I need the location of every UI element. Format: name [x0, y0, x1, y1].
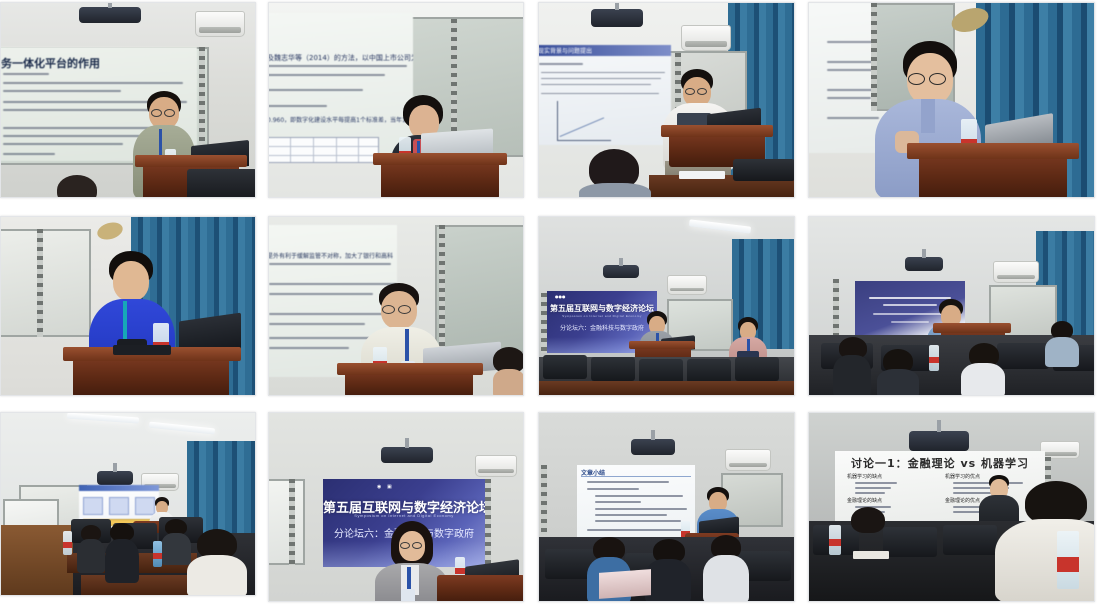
torso: [187, 555, 247, 595]
chair-back: [639, 359, 683, 383]
lanyard: [405, 329, 409, 363]
slide-text-line: [3, 90, 121, 92]
chair-back: [883, 527, 937, 557]
whiteboard: [435, 225, 523, 353]
podium-top: [373, 153, 507, 165]
slide-text-line: [269, 263, 391, 265]
chair-back: [943, 525, 997, 555]
slide-table: [269, 137, 379, 163]
gallery-photo-8[interactable]: [808, 216, 1095, 396]
slide-text-line: [827, 97, 871, 99]
podium-top: [337, 363, 483, 375]
torso: [579, 183, 651, 197]
chair-back: [687, 359, 731, 383]
audience-member: [1045, 321, 1079, 367]
projector-icon: [909, 431, 969, 451]
university-logo: ●●●: [555, 294, 565, 299]
slide-text-line: [269, 347, 349, 349]
torso: [645, 559, 691, 601]
photo-1-slide-heading: 务一体化平台的作用: [1, 55, 100, 71]
shirt-placket: [921, 99, 935, 133]
audience-member: [877, 349, 919, 395]
slide-text-line: [269, 65, 407, 67]
torso: [961, 363, 1005, 395]
podium: [73, 355, 229, 395]
slide-text-line: [541, 72, 665, 73]
paper-stack: [679, 171, 725, 179]
slide-text-line: [269, 89, 363, 91]
podium-top: [907, 143, 1079, 159]
whiteboard-rail: [289, 479, 295, 565]
water-bottle: [929, 345, 939, 371]
audience-member: [49, 175, 105, 197]
slide-text-line: [827, 117, 879, 119]
photo-5-scene: [1, 217, 255, 395]
torso: [105, 539, 139, 583]
lanyard: [123, 301, 127, 341]
lanyard: [407, 567, 411, 591]
chair-back: [735, 357, 779, 381]
audience-member: [579, 149, 651, 197]
glasses-icon: [697, 88, 707, 95]
slide-text-line: [855, 492, 885, 494]
photo-6-slide-heading: 是外有利于缓解监管不对称，加大了银行和高科: [269, 251, 393, 260]
table-rule: [269, 146, 378, 147]
glasses-icon: [929, 73, 946, 85]
photo-11-scene: 文章小结: [539, 413, 794, 601]
head: [113, 261, 149, 301]
podium: [437, 575, 523, 601]
projector-icon: [97, 471, 133, 485]
slide-text-line: [827, 69, 875, 71]
torso: [703, 555, 749, 601]
slide-text-line: [269, 74, 385, 76]
torso: [1045, 337, 1079, 367]
water-bottle: [153, 541, 162, 567]
whiteboard: [269, 479, 305, 565]
photo-3-slide-heading: 现实背景与问题提出: [539, 46, 592, 55]
photo-12-slide-title: 讨论一1：金融理论 vs 机器学习: [835, 455, 1045, 471]
audience-member-foreground: [995, 481, 1094, 601]
slide-text-line: [3, 82, 183, 84]
audience-member: [493, 347, 523, 395]
gallery-photo-4[interactable]: [808, 2, 1095, 198]
whiteboard-rail: [541, 465, 547, 535]
photo-3-scene: 现实背景与问题提出: [539, 3, 794, 197]
torso: [995, 519, 1094, 601]
front-desk: [539, 381, 794, 395]
slide-text-line: [541, 84, 651, 85]
podium-top: [661, 125, 773, 137]
slide-rule: [581, 476, 691, 477]
whiteboard-rail: [833, 279, 839, 341]
open-laptop: [599, 569, 651, 599]
slide-chart: [557, 101, 611, 141]
photo-2-slide-heading: 及魏志华等（2014）的方法，以中国上市公司为: [269, 53, 413, 63]
gallery-photo-12[interactable]: 讨论一1：金融理论 vs 机器学习 机器学习的缺点 机器学习的优点 金融理论的缺…: [808, 412, 1095, 602]
slide-text-line: [269, 293, 373, 295]
audience-member: [961, 343, 1005, 395]
slide-text-line: [595, 508, 687, 510]
chair-back: [733, 159, 794, 181]
table-rule: [313, 138, 314, 162]
slide-text-line: [595, 520, 681, 522]
air-conditioner-icon: [195, 11, 245, 37]
air-conditioner-icon: [475, 455, 517, 477]
audience-member: [105, 523, 139, 583]
slide-header-bar: [79, 485, 159, 491]
gallery-photo-7[interactable]: ●●● 第五届互联网与数字经济论坛 Symposium on Internet …: [538, 216, 795, 396]
photo-10-scene: ◉ ▣ 第五届互联网与数字经济论坛 Symposium on Internet …: [269, 413, 523, 601]
audience-member: [833, 337, 871, 395]
university-logo: ◉ ▣: [377, 484, 394, 490]
glasses-icon: [151, 109, 162, 117]
photo-gallery-grid: 务一体化平台的作用: [0, 0, 1107, 604]
projector-icon: [631, 439, 675, 455]
slide-text-line: [541, 78, 661, 79]
torso: [833, 355, 871, 395]
table-rule: [336, 138, 337, 162]
projector-icon: [591, 9, 643, 27]
slide-text-line: [587, 481, 669, 483]
projector-icon: [79, 7, 141, 23]
torso: [77, 539, 105, 573]
glasses-icon: [908, 73, 925, 85]
gallery-photo-10[interactable]: ◉ ▣ 第五届互联网与数字经济论坛 Symposium on Internet …: [268, 412, 524, 602]
audience-member: [845, 507, 891, 549]
podium-top: [629, 341, 695, 349]
glasses-icon: [398, 305, 411, 314]
air-conditioner-icon: [993, 261, 1039, 283]
glasses-icon: [685, 88, 695, 95]
slide-text-line: [587, 488, 639, 490]
photo-12-scene: 讨论一1：金融理论 vs 机器学习 机器学习的缺点 机器学习的优点 金融理论的缺…: [809, 413, 1094, 601]
hair: [851, 507, 885, 533]
slide-text-line: [3, 73, 49, 75]
gallery-photo-2[interactable]: 及魏志华等（2014）的方法，以中国上市公司为 0.960，即数字化建设水平每提…: [268, 2, 524, 198]
audience-member: [703, 535, 749, 601]
whiteboard: [1, 229, 91, 337]
slide-text-line: [855, 487, 891, 489]
badge: [401, 589, 415, 601]
projector-icon: [905, 257, 943, 271]
projection-screen: 现实背景与问题提出: [539, 45, 671, 145]
slide-text-line: [595, 514, 667, 516]
chart-trendline: [560, 117, 605, 137]
slide-text-line: [541, 93, 659, 94]
podium-top: [135, 155, 247, 167]
gallery-photo-9[interactable]: [0, 412, 256, 596]
table-rule: [290, 138, 291, 162]
gallery-photo-1[interactable]: 务一体化平台的作用: [0, 2, 256, 198]
gallery-photo-3[interactable]: 现实背景与问题提出: [538, 2, 795, 198]
photo-7-scene: ●●● 第五届互联网与数字经济论坛 Symposium on Internet …: [539, 217, 794, 395]
glasses-icon: [164, 109, 175, 117]
slide-box: [83, 497, 103, 515]
glasses-icon: [412, 542, 422, 549]
gallery-photo-11[interactable]: 文章小结: [538, 412, 795, 602]
air-conditioner-icon: [725, 449, 771, 471]
slide-text-line: [587, 529, 683, 531]
keyboard: [113, 345, 171, 355]
chair-back: [591, 357, 635, 381]
projector-icon: [603, 265, 639, 278]
air-conditioner-icon: [681, 25, 731, 51]
gallery-photo-5[interactable]: [0, 216, 256, 396]
water-bottle: [63, 531, 72, 555]
photo-12-col2-head: 机器学习的优点: [945, 473, 980, 480]
photo-12-col4-head: 金融理论的优点: [945, 497, 980, 504]
chair-back: [187, 169, 255, 197]
photo-1-scene: 务一体化平台的作用: [1, 3, 255, 197]
audience-member-foreground: [187, 529, 247, 595]
photo-9-scene: [1, 413, 255, 595]
torso: [493, 369, 523, 395]
table-rule: [358, 138, 359, 162]
glasses-icon: [400, 542, 410, 549]
water-bottle: [1057, 531, 1079, 589]
air-conditioner-icon: [667, 275, 707, 295]
audience-member: [645, 539, 691, 601]
photo-2-scene: 及魏志华等（2014）的方法，以中国上市公司为 0.960，即数字化建设水平每提…: [269, 3, 523, 197]
photo-12-col1-head: 机器学习的缺点: [847, 473, 882, 480]
slide-text-line: [269, 323, 365, 325]
slide-text-line: [3, 153, 55, 155]
torso: [877, 369, 919, 395]
whiteboard-rail: [37, 229, 43, 337]
slide-text-line: [855, 482, 897, 484]
chair-back: [543, 355, 587, 379]
slide-text-line: [269, 105, 327, 107]
hair: [57, 175, 97, 197]
slide-text-line: [595, 495, 683, 497]
audience-member: [77, 525, 105, 573]
photo-10-slide-english: Symposium on Internet and Digital Econom…: [323, 513, 485, 518]
table-rule: [269, 155, 378, 156]
slide-text-line: [3, 143, 123, 145]
paper-sheet: [853, 551, 889, 559]
photo-4-scene: [809, 3, 1094, 197]
gallery-photo-6[interactable]: 是外有利于缓解监管不对称，加大了银行和高科: [268, 216, 524, 396]
photo-12-col3-head: 金融理论的缺点: [847, 497, 882, 504]
photo-8-scene: [809, 217, 1094, 395]
podium-top: [933, 323, 1011, 333]
projector-icon: [381, 447, 433, 463]
slide-text-line: [539, 63, 583, 65]
slide-text-line: [891, 321, 929, 323]
water-bottle: [829, 525, 841, 555]
projection-screen: 文章小结: [577, 465, 695, 539]
slide-box: [109, 497, 129, 515]
photo-6-scene: 是外有利于缓解监管不对称，加大了银行和高科: [269, 217, 523, 395]
slide-text-line: [595, 501, 641, 503]
whiteboard-rail: [485, 479, 491, 565]
glasses-icon: [382, 305, 395, 314]
